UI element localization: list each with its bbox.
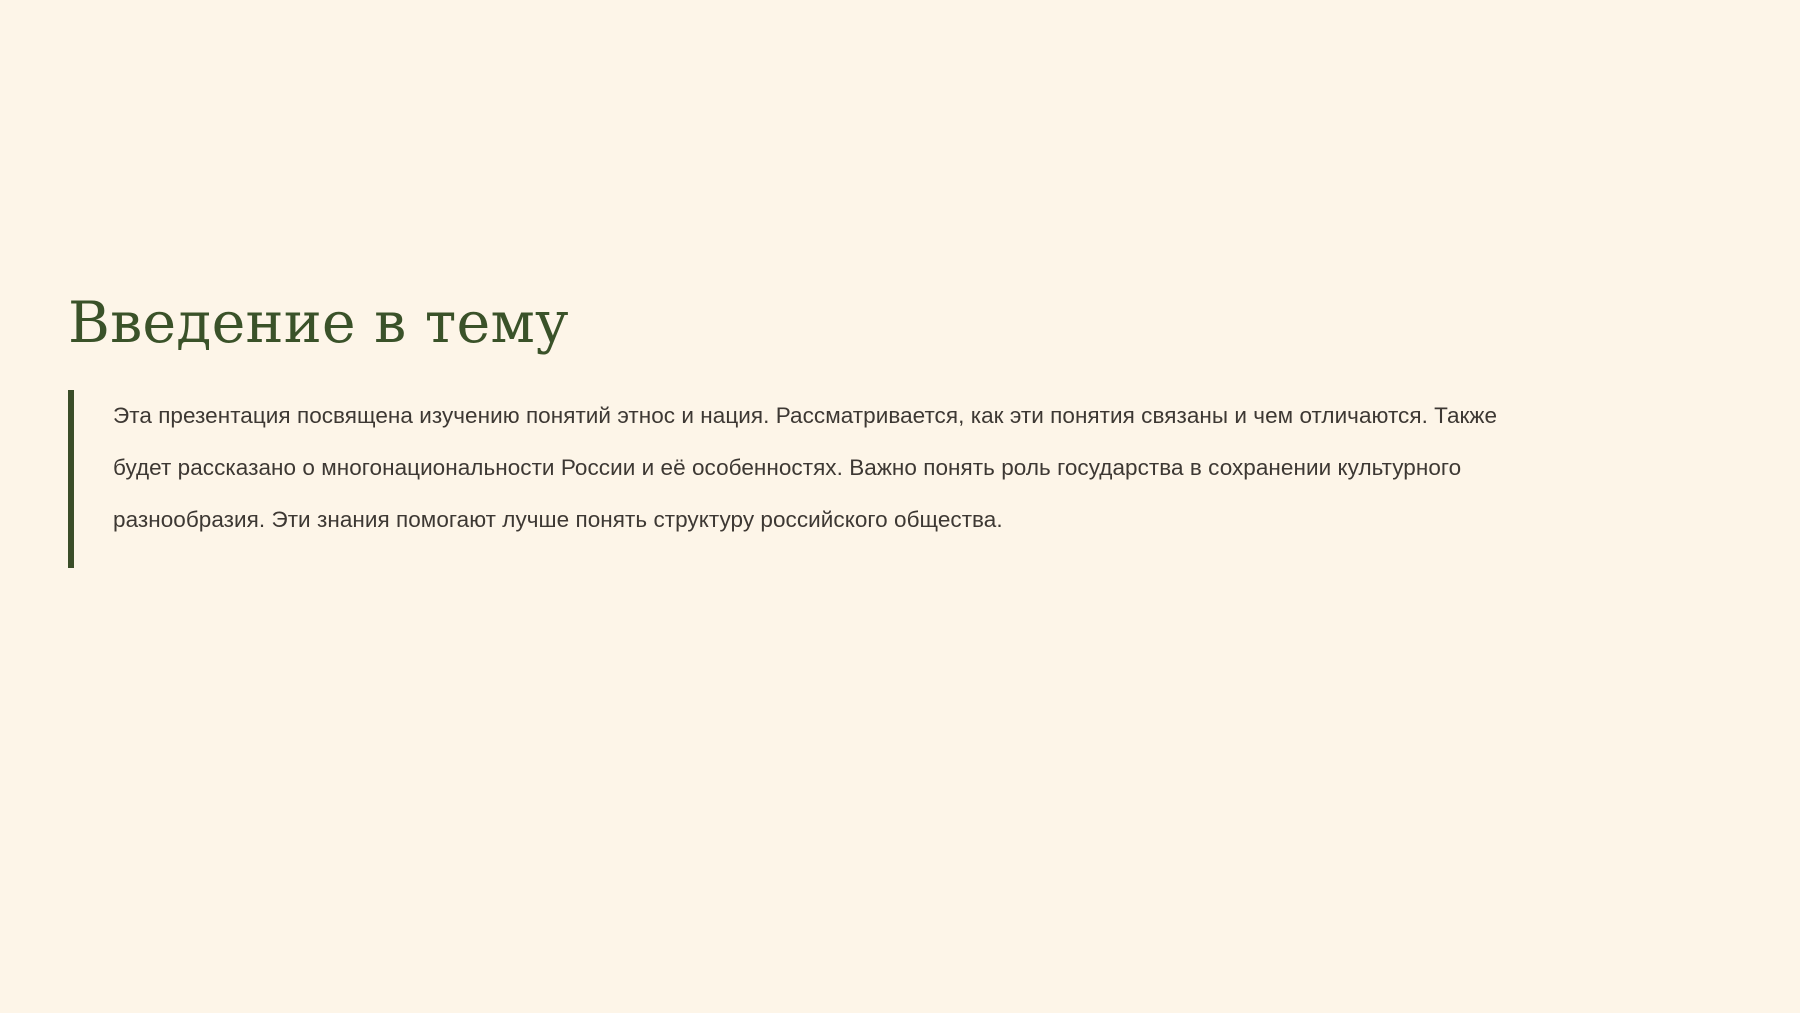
- body-block: Эта презентация посвящена изучению понят…: [68, 390, 1528, 568]
- presentation-slide: Введение в тему Эта презентация посвящен…: [0, 0, 1800, 1013]
- accent-bar: [68, 390, 74, 568]
- slide-content: Введение в тему Эта презентация посвящен…: [68, 290, 1528, 568]
- page-title: Введение в тему: [68, 290, 1528, 357]
- body-paragraph: Эта презентация посвящена изучению понят…: [113, 390, 1503, 546]
